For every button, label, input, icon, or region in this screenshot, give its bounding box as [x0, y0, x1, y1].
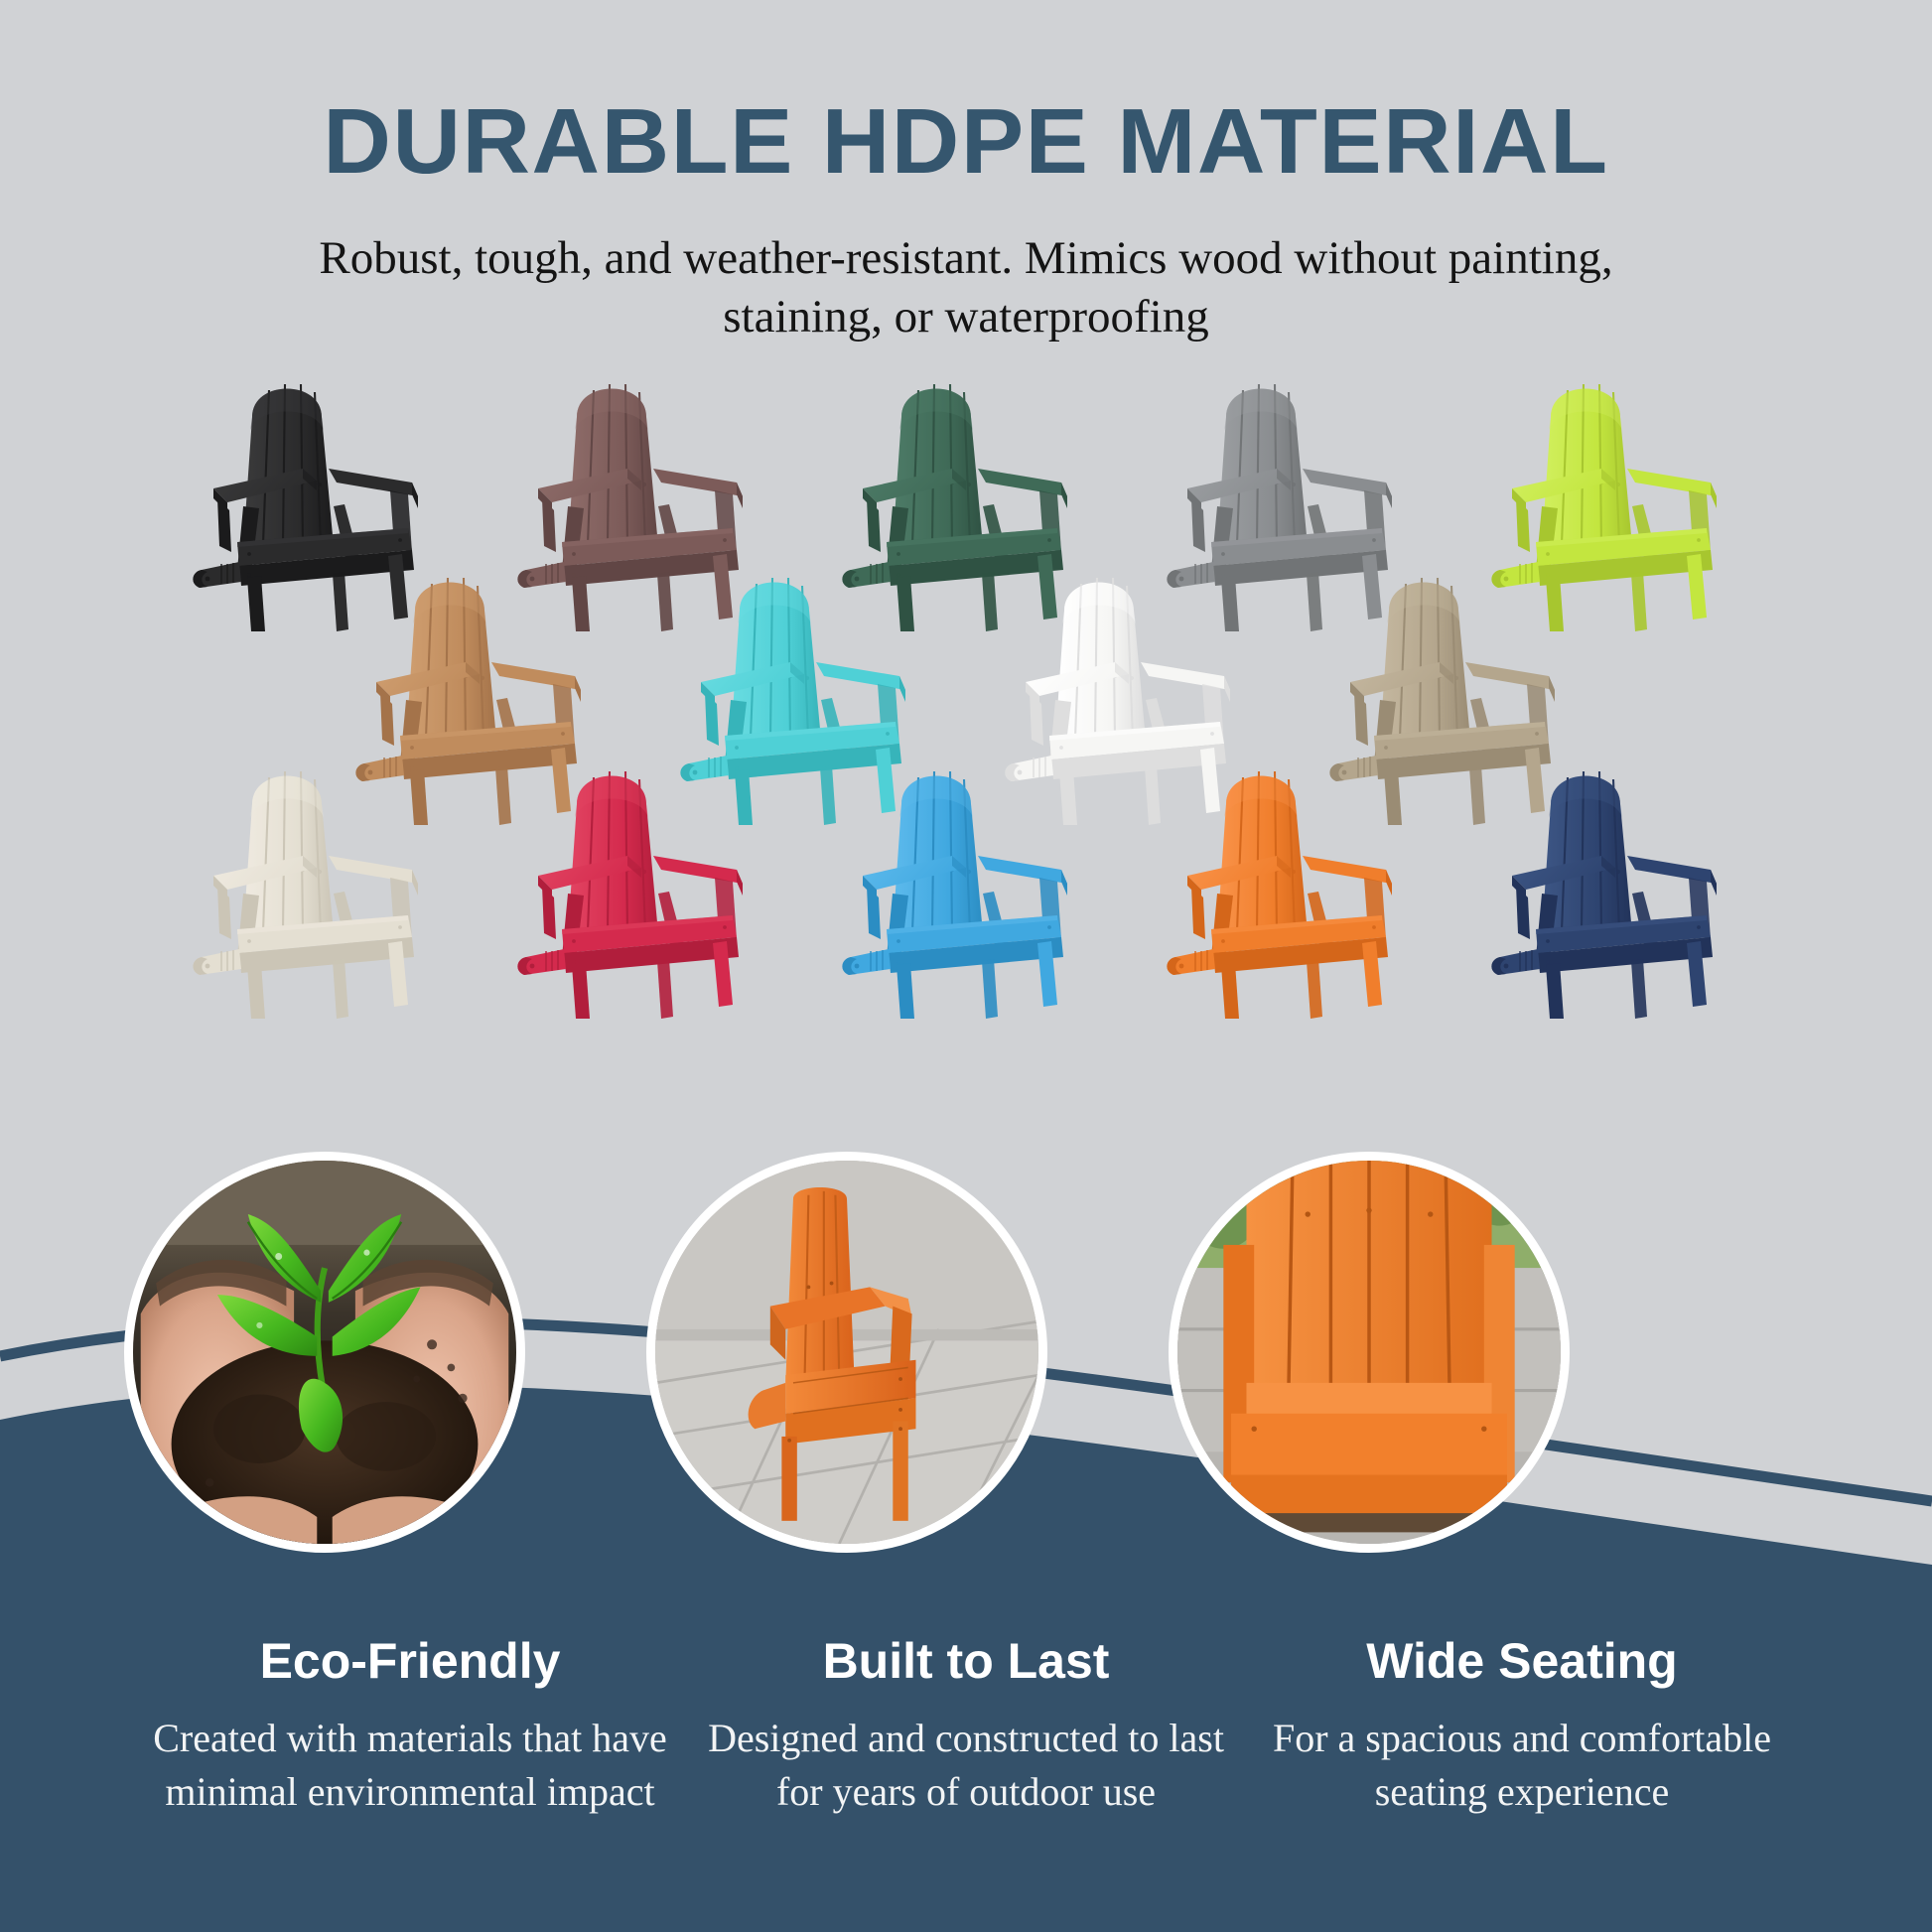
- chair-folding-foot: [517, 949, 566, 975]
- adirondack-chair-21: [502, 745, 780, 1018]
- seedling-in-hands-icon: [133, 1161, 516, 1544]
- chair-swatch-red[interactable]: [502, 745, 780, 1018]
- adirondack-chair-22: [827, 745, 1105, 1018]
- adirondack-chair-20: [178, 745, 456, 1018]
- chair-row-3: [0, 745, 1932, 1018]
- feature-text-row: Eco-Friendly Created with materials that…: [0, 1636, 1932, 1818]
- feature-description: Designed and constructed to last for yea…: [702, 1712, 1230, 1818]
- chair-color-grid: [0, 357, 1932, 1251]
- chair-swatch-ivory[interactable]: [178, 745, 456, 1018]
- chair-swatch-sky-blue[interactable]: [827, 745, 1105, 1018]
- adirondack-chair-24: [1476, 745, 1754, 1018]
- chair-folding-foot: [1167, 949, 1215, 975]
- adirondack-chair-23: [1152, 745, 1430, 1018]
- chair-swatch-navy-blue[interactable]: [1476, 745, 1754, 1018]
- page-subtitle: Robust, tough, and weather-resistant. Mi…: [311, 188, 1621, 346]
- chair-swatch-orange[interactable]: [1152, 745, 1430, 1018]
- chair-folding-foot: [842, 949, 891, 975]
- orange-chair-seat-closeup-icon: [1177, 1161, 1561, 1544]
- feature-photo-built-to-last: [646, 1152, 1047, 1553]
- feature-title: Built to Last: [702, 1636, 1230, 1686]
- feature-description: Created with materials that have minimal…: [146, 1712, 674, 1818]
- infographic-canvas: DURABLE HDPE MATERIAL Robust, tough, and…: [0, 0, 1932, 1932]
- orange-adirondack-chair-icon: [655, 1161, 1038, 1544]
- page-title: DURABLE HDPE MATERIAL: [0, 0, 1932, 188]
- feature-built-to-last: Built to Last Designed and constructed t…: [688, 1636, 1244, 1818]
- feature-photo-wide-seating: [1169, 1152, 1570, 1553]
- feature-photo-eco-friendly: [124, 1152, 525, 1553]
- header-block: DURABLE HDPE MATERIAL Robust, tough, and…: [0, 0, 1932, 346]
- feature-description: For a spacious and comfortable seating e…: [1258, 1712, 1786, 1818]
- feature-eco-friendly: Eco-Friendly Created with materials that…: [132, 1636, 688, 1818]
- chair-folding-foot: [193, 949, 241, 975]
- feature-title: Wide Seating: [1258, 1636, 1786, 1686]
- feature-photo-row: [0, 1152, 1932, 1549]
- chair-folding-foot: [1491, 949, 1540, 975]
- feature-wide-seating: Wide Seating For a spacious and comforta…: [1244, 1636, 1800, 1818]
- feature-title: Eco-Friendly: [146, 1636, 674, 1686]
